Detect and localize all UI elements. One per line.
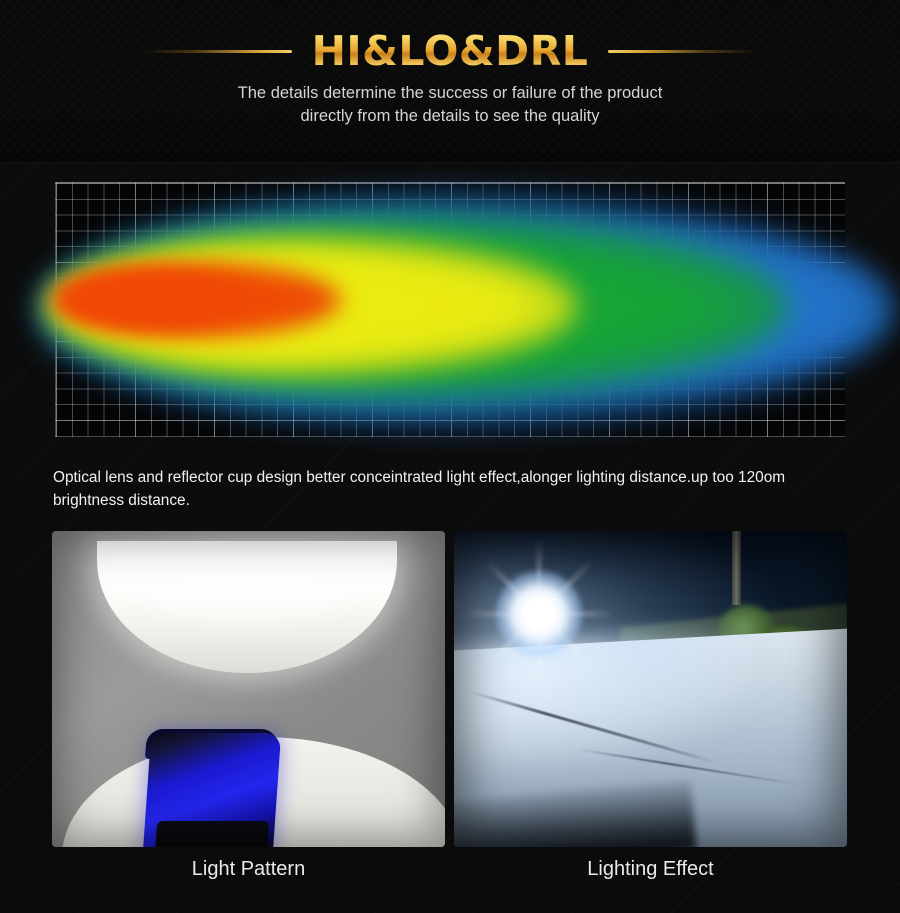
- light-pattern-photo[interactable]: [52, 531, 445, 847]
- title-rule-right-icon: [608, 50, 758, 53]
- lighting-effect-photo[interactable]: [454, 531, 847, 847]
- photo-vignette: [52, 531, 445, 847]
- product-description: Optical lens and reflector cup design be…: [53, 466, 853, 512]
- heatmap-hotspot-core: [60, 270, 250, 328]
- header-banner: HI&LO&DRL The details determine the succ…: [0, 0, 900, 163]
- header-subtitle-line-1: The details determine the success or fai…: [0, 82, 900, 105]
- caption-row: Light Pattern Lighting Effect: [52, 858, 848, 896]
- photo-row: [52, 531, 848, 847]
- title-row: HI&LO&DRL: [0, 27, 900, 75]
- photo-vignette: [454, 531, 847, 847]
- header-subtitle-line-2: directly from the details to see the qua…: [0, 105, 900, 128]
- header-subtitle: The details determine the success or fai…: [0, 82, 900, 128]
- title-rule-left-icon: [142, 50, 292, 53]
- page-title: HI&LO&DRL: [312, 27, 589, 75]
- caption-lighting-effect: Lighting Effect: [454, 858, 847, 896]
- light-distribution-heatmap: [0, 170, 900, 455]
- caption-light-pattern: Light Pattern: [52, 858, 445, 896]
